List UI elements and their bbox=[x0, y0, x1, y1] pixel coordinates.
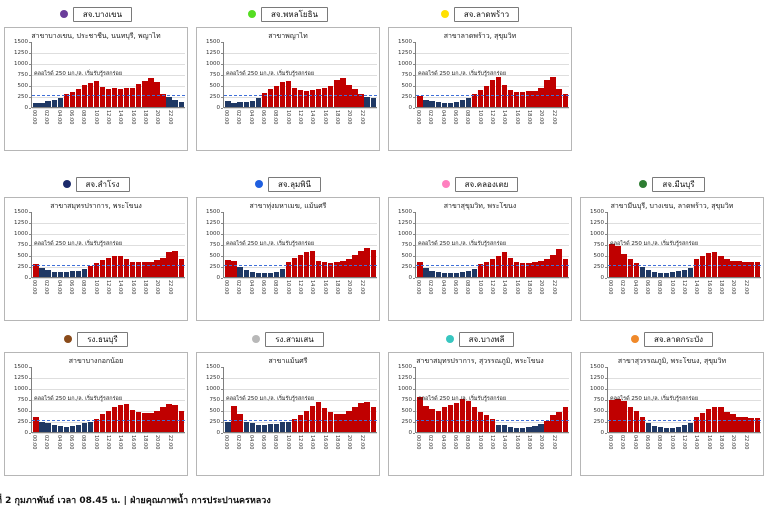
y-axis-tick-label: 0 bbox=[25, 430, 29, 436]
chart-panel: สาขาสมุทรปราการ, พระโขนง1500125010007505… bbox=[4, 197, 188, 321]
bar bbox=[256, 273, 261, 277]
chart-panel: สาขาแม้นศรี1500125010007505002500คลอไรด์… bbox=[196, 352, 380, 476]
bar bbox=[730, 414, 735, 432]
bar bbox=[268, 89, 273, 107]
bar bbox=[346, 411, 351, 432]
station-legend-chip[interactable]: สจ.มีนบุรี bbox=[576, 173, 768, 195]
bar bbox=[466, 401, 471, 432]
station-legend-chip[interactable]: สจ.ลาดพร้าว bbox=[384, 3, 576, 25]
bar bbox=[484, 415, 489, 432]
y-axis-tick-label: 250 bbox=[210, 419, 221, 425]
y-axis-tick-label: 1500 bbox=[398, 209, 412, 215]
y-axis-tick-label: 1000 bbox=[14, 61, 28, 67]
bar bbox=[58, 98, 63, 107]
bar bbox=[100, 260, 105, 277]
threshold-line bbox=[32, 420, 185, 421]
bar bbox=[436, 411, 441, 432]
bar bbox=[328, 86, 333, 107]
y-axis-tick-label: 1500 bbox=[14, 209, 28, 215]
threshold-annotation: คลอไรด์ 250 มก./ล. เริ่มรับรู้รสกร่อย bbox=[226, 396, 314, 403]
bar bbox=[88, 422, 93, 432]
bar bbox=[45, 101, 50, 107]
bar bbox=[244, 422, 249, 432]
bar bbox=[52, 272, 57, 277]
y-axis-tick-label: 750 bbox=[18, 397, 29, 403]
bar bbox=[556, 89, 561, 107]
threshold-line bbox=[224, 265, 377, 266]
x-axis-tick bbox=[371, 279, 377, 309]
plot-wrapper: 1500125010007505002500คลอไรด์ 250 มก./ล.… bbox=[197, 42, 379, 140]
bar bbox=[526, 91, 531, 107]
y-axis-tick-label: 750 bbox=[402, 72, 413, 78]
y-axis-tick-label: 750 bbox=[402, 242, 413, 248]
bar bbox=[52, 100, 57, 107]
bar bbox=[58, 272, 63, 277]
x-axis: 00:0002:0004:0006:0008:0010:0012:0014:00… bbox=[607, 279, 761, 309]
x-axis-tick bbox=[563, 434, 569, 464]
bar bbox=[417, 96, 422, 107]
bar bbox=[640, 267, 645, 277]
bar bbox=[538, 424, 543, 432]
plot-wrapper: 1500125010007505002500คลอไรด์ 250 มก./ล.… bbox=[5, 42, 187, 140]
threshold-annotation: คลอไรด์ 250 มก./ล. เริ่มรับรู้รสกร่อย bbox=[226, 241, 314, 248]
bar bbox=[154, 260, 159, 277]
plot-area: คลอไรด์ 250 มก./ล. เริ่มรับรู้รสกร่อย bbox=[223, 212, 377, 278]
bar bbox=[112, 256, 117, 277]
bar bbox=[490, 259, 495, 277]
bar bbox=[88, 266, 93, 277]
chart-cell: รง.สามเสนสาขาแม้นศรี15001250100075050025… bbox=[192, 325, 384, 480]
y-axis-tick-label: 0 bbox=[217, 275, 221, 281]
bar bbox=[70, 271, 75, 277]
bar bbox=[502, 425, 507, 432]
y-axis-tick-label: 750 bbox=[210, 242, 221, 248]
bar bbox=[460, 100, 465, 107]
chart-panel: สาขาบางเขน, ประชาชื่น, นนทบุรี, พญาไท150… bbox=[4, 27, 188, 151]
bar bbox=[496, 256, 501, 277]
chart-panel: สาขามีนบุรี, บางเขน, ลาดพร้าว, สุขุมวิท1… bbox=[580, 197, 764, 321]
y-axis-tick-label: 1500 bbox=[590, 209, 604, 215]
station-color-dot-icon bbox=[441, 10, 449, 18]
bar bbox=[298, 415, 303, 432]
y-axis-tick-label: 1500 bbox=[398, 39, 412, 45]
bar bbox=[106, 411, 111, 432]
bar bbox=[508, 90, 513, 107]
bar bbox=[371, 250, 376, 277]
station-name-label: สจ.ลาดพร้าว bbox=[454, 7, 519, 22]
charts-grid: สจ.บางเขนสาขาบางเขน, ประชาชื่น, นนทบุรี,… bbox=[0, 0, 768, 480]
bar bbox=[82, 85, 87, 107]
y-axis-tick-label: 0 bbox=[25, 105, 29, 111]
bar bbox=[39, 103, 44, 107]
x-axis-tick bbox=[371, 434, 377, 464]
chart-panel: สาขาบางกอกน้อย1500125010007505002500คลอไ… bbox=[4, 352, 188, 476]
bar bbox=[256, 425, 261, 432]
bar bbox=[694, 259, 699, 277]
y-axis-tick-label: 1250 bbox=[14, 375, 28, 381]
bar bbox=[82, 269, 87, 277]
threshold-annotation: คลอไรด์ 250 มก./ล. เริ่มรับรู้รสกร่อย bbox=[226, 71, 314, 78]
bar bbox=[244, 102, 249, 107]
bar bbox=[609, 400, 614, 432]
plot-wrapper: 1500125010007505002500คลอไรด์ 250 มก./ล.… bbox=[581, 367, 763, 465]
y-axis-tick-label: 0 bbox=[409, 105, 413, 111]
bar bbox=[316, 261, 321, 277]
bar bbox=[268, 273, 273, 277]
bar bbox=[508, 427, 513, 432]
bar bbox=[124, 88, 129, 107]
bar bbox=[304, 411, 309, 432]
y-axis-tick-label: 500 bbox=[210, 253, 221, 259]
bar bbox=[130, 262, 135, 277]
x-axis-tick bbox=[179, 109, 185, 139]
bar bbox=[609, 244, 614, 277]
plot-wrapper: 1500125010007505002500คลอไรด์ 250 มก./ล.… bbox=[389, 367, 571, 465]
bar bbox=[346, 85, 351, 107]
chart-row-2: สจ.สำโรงสาขาสมุทรปราการ, พระโขนง15001250… bbox=[0, 170, 768, 325]
bar bbox=[502, 85, 507, 107]
y-axis-tick-label: 1000 bbox=[590, 231, 604, 237]
bar bbox=[250, 101, 255, 107]
x-axis-tick bbox=[755, 434, 761, 464]
y-axis-tick-label: 1000 bbox=[206, 386, 220, 392]
bar bbox=[304, 91, 309, 107]
y-axis-tick-label: 1500 bbox=[590, 364, 604, 370]
bar bbox=[544, 421, 549, 432]
chart-cell: รง.ธนบุรีสาขาบางกอกน้อย15001250100075050… bbox=[0, 325, 192, 480]
threshold-line bbox=[32, 95, 185, 96]
chart-title: สาขาทุ่งมหาเมฆ, แม้นศรี bbox=[199, 202, 377, 211]
x-axis: 00:0002:0004:0006:0008:0010:0012:0014:00… bbox=[415, 279, 569, 309]
y-axis-tick-label: 250 bbox=[210, 264, 221, 270]
y-axis-tick-label: 0 bbox=[409, 275, 413, 281]
y-axis: 1500125010007505002500 bbox=[581, 212, 607, 278]
y-axis-tick-label: 500 bbox=[594, 253, 605, 259]
bar bbox=[274, 272, 279, 277]
plot-area: คลอไรด์ 250 มก./ล. เริ่มรับรู้รสกร่อย bbox=[415, 367, 569, 433]
station-name-label: สจ.บางพลี bbox=[459, 332, 515, 347]
y-axis-tick-label: 750 bbox=[594, 397, 605, 403]
bar bbox=[460, 272, 465, 277]
threshold-line bbox=[224, 420, 377, 421]
bar bbox=[256, 98, 261, 107]
threshold-annotation: คลอไรด์ 250 มก./ล. เริ่มรับรู้รสกร่อย bbox=[610, 241, 698, 248]
bar bbox=[371, 98, 376, 107]
x-axis: 00:0002:0004:0006:0008:0010:0012:0014:00… bbox=[223, 109, 377, 139]
x-axis-tick bbox=[179, 279, 185, 309]
bar bbox=[556, 249, 561, 277]
bar bbox=[364, 97, 369, 107]
bar bbox=[423, 100, 428, 107]
bar bbox=[310, 406, 315, 432]
bar bbox=[724, 259, 729, 277]
y-axis-tick-label: 250 bbox=[210, 94, 221, 100]
y-axis-tick-label: 0 bbox=[25, 275, 29, 281]
bar bbox=[148, 413, 153, 432]
bar bbox=[340, 261, 345, 277]
bar bbox=[550, 77, 555, 107]
dashboard-page: สจ.บางเขนสาขาบางเขน, ประชาชื่น, นนทบุรี,… bbox=[0, 0, 768, 512]
bar bbox=[478, 412, 483, 432]
plot-wrapper: 1500125010007505002500คลอไรด์ 250 มก./ล.… bbox=[197, 212, 379, 310]
bar bbox=[718, 256, 723, 277]
station-legend-chip[interactable]: รง.สามเสน bbox=[192, 328, 384, 350]
plot-wrapper: 1500125010007505002500คลอไรด์ 250 มก./ล.… bbox=[5, 212, 187, 310]
bar bbox=[118, 405, 123, 432]
bar bbox=[621, 401, 626, 432]
bar bbox=[429, 271, 434, 277]
station-color-dot-icon bbox=[64, 335, 72, 343]
bar bbox=[298, 90, 303, 107]
bar bbox=[154, 411, 159, 432]
bar bbox=[682, 425, 687, 432]
bar bbox=[514, 92, 519, 107]
y-axis-tick-label: 1000 bbox=[398, 231, 412, 237]
bar bbox=[340, 78, 345, 107]
bar bbox=[70, 426, 75, 432]
station-color-dot-icon bbox=[248, 10, 256, 18]
bar bbox=[520, 428, 525, 432]
chart-title: สาขาบางเขน, ประชาชื่น, นนทบุรี, พญาไท bbox=[7, 32, 185, 41]
station-legend-chip[interactable]: สจ.บางเขน bbox=[0, 3, 192, 25]
plot-wrapper: 1500125010007505002500คลอไรด์ 250 มก./ล.… bbox=[389, 212, 571, 310]
x-axis: 00:0002:0004:0006:0008:0010:0012:0014:00… bbox=[223, 434, 377, 464]
bar bbox=[250, 423, 255, 432]
station-name-label: สจ.คลองเตย bbox=[455, 177, 519, 192]
bar bbox=[550, 415, 555, 432]
chart-panel: สาขาสมุทรปราการ, สุวรรณภูมิ, พระโขนง1500… bbox=[388, 352, 572, 476]
bar bbox=[280, 269, 285, 277]
bar bbox=[274, 86, 279, 107]
bar bbox=[39, 422, 44, 432]
x-axis-tick bbox=[755, 279, 761, 309]
bar bbox=[652, 272, 657, 277]
bar bbox=[45, 270, 50, 277]
bar bbox=[340, 414, 345, 432]
bar bbox=[538, 88, 543, 107]
x-axis: 00:0002:0004:0006:0008:0010:0012:0014:00… bbox=[607, 434, 761, 464]
y-axis: 1500125010007505002500 bbox=[197, 212, 223, 278]
bar bbox=[172, 405, 177, 432]
chart-row-3: รง.ธนบุรีสาขาบางกอกน้อย15001250100075050… bbox=[0, 325, 768, 480]
bar bbox=[231, 103, 236, 107]
bar bbox=[179, 411, 184, 432]
station-legend-chip[interactable]: สจ.สำโรง bbox=[0, 173, 192, 195]
y-axis: 1500125010007505002500 bbox=[197, 367, 223, 433]
y-axis-tick-label: 0 bbox=[601, 275, 605, 281]
bar bbox=[544, 259, 549, 277]
bar bbox=[423, 268, 428, 277]
y-axis-tick-label: 1250 bbox=[206, 220, 220, 226]
bar bbox=[346, 259, 351, 277]
bar bbox=[286, 422, 291, 432]
bar bbox=[316, 402, 321, 432]
bar bbox=[33, 103, 38, 107]
x-axis: 00:0002:0004:0006:0008:0010:0012:0014:00… bbox=[31, 279, 185, 309]
bar bbox=[274, 424, 279, 432]
plot-area: คลอไรด์ 250 มก./ล. เริ่มรับรู้รสกร่อย bbox=[31, 367, 185, 433]
bar bbox=[700, 256, 705, 277]
y-axis-tick-label: 500 bbox=[18, 83, 29, 89]
y-axis-tick-label: 250 bbox=[402, 94, 413, 100]
bar bbox=[225, 101, 230, 107]
station-legend-chip[interactable]: รง.ธนบุรี bbox=[0, 328, 192, 350]
plot-wrapper: 1500125010007505002500คลอไรด์ 250 มก./ล.… bbox=[5, 367, 187, 465]
station-name-label: รง.ธนบุรี bbox=[77, 332, 127, 347]
y-axis-tick-label: 500 bbox=[18, 408, 29, 414]
bar bbox=[172, 251, 177, 277]
y-axis-tick-label: 1500 bbox=[14, 39, 28, 45]
station-legend-chip[interactable]: สจ.บางพลี bbox=[384, 328, 576, 350]
bar bbox=[268, 424, 273, 432]
chart-panel: สาขาพญาไท1500125010007505002500คลอไรด์ 2… bbox=[196, 27, 380, 151]
station-name-label: สจ.สำโรง bbox=[76, 177, 130, 192]
bar bbox=[364, 402, 369, 432]
chart-title: สาขาบางกอกน้อย bbox=[7, 357, 185, 366]
y-axis: 1500125010007505002500 bbox=[389, 42, 415, 108]
y-axis: 1500125010007505002500 bbox=[389, 367, 415, 433]
x-axis: 00:0002:0004:0006:0008:0010:0012:0014:00… bbox=[31, 434, 185, 464]
bar bbox=[328, 412, 333, 432]
threshold-line bbox=[32, 265, 185, 266]
chart-cell: สจ.บางเขนสาขาบางเขน, ประชาชื่น, นนทบุรี,… bbox=[0, 0, 192, 155]
station-legend-chip[interactable]: สจ.พหลโยธิน bbox=[192, 3, 384, 25]
bar bbox=[682, 270, 687, 277]
bar bbox=[262, 425, 267, 432]
bar bbox=[742, 262, 747, 277]
bar bbox=[508, 258, 513, 277]
bar bbox=[688, 423, 693, 432]
bar bbox=[532, 426, 537, 432]
bar bbox=[250, 272, 255, 277]
bar bbox=[148, 262, 153, 277]
bar bbox=[436, 102, 441, 107]
chart-cell: สจ.ลาดกระบังสาขาสุวรรณภูมิ, พระโขนง, สุข… bbox=[576, 325, 768, 480]
threshold-annotation: คลอไรด์ 250 มก./ล. เริ่มรับรู้รสกร่อย bbox=[610, 396, 698, 403]
bar bbox=[472, 269, 477, 277]
bar bbox=[652, 426, 657, 432]
bar bbox=[514, 428, 519, 432]
y-axis-tick-label: 1500 bbox=[398, 364, 412, 370]
y-axis-tick-label: 250 bbox=[402, 264, 413, 270]
bar bbox=[563, 259, 568, 277]
threshold-annotation: คลอไรด์ 250 มก./ล. เริ่มรับรู้รสกร่อย bbox=[418, 71, 506, 78]
station-name-label: สจ.พหลโยธิน bbox=[261, 7, 328, 22]
threshold-line bbox=[416, 420, 569, 421]
threshold-line bbox=[608, 420, 761, 421]
plot-wrapper: 1500125010007505002500คลอไรด์ 250 มก./ล.… bbox=[581, 212, 763, 310]
footer-text: ที่ 2 กุมภาพันธ์ เวลา 08.45 น. | ฝ่ายคุณ… bbox=[0, 493, 271, 507]
plot-area: คลอไรด์ 250 มก./ล. เริ่มรับรู้รสกร่อย bbox=[31, 42, 185, 108]
station-color-dot-icon bbox=[252, 335, 260, 343]
y-axis: 1500125010007505002500 bbox=[5, 42, 31, 108]
bar bbox=[225, 422, 230, 432]
threshold-line bbox=[416, 95, 569, 96]
bar bbox=[526, 427, 531, 432]
y-axis-tick-label: 250 bbox=[594, 264, 605, 270]
bar bbox=[106, 89, 111, 107]
bar bbox=[237, 267, 242, 277]
bar bbox=[670, 428, 675, 432]
bar bbox=[628, 259, 633, 277]
bar bbox=[172, 100, 177, 107]
bar bbox=[39, 268, 44, 277]
bar bbox=[496, 425, 501, 432]
y-axis-tick-label: 250 bbox=[18, 419, 29, 425]
y-axis-tick-label: 750 bbox=[210, 397, 221, 403]
bar bbox=[448, 405, 453, 432]
bar bbox=[142, 81, 147, 107]
chart-row-1: สจ.บางเขนสาขาบางเขน, ประชาชื่น, นนทบุรี,… bbox=[0, 0, 768, 170]
plot-area: คลอไรด์ 250 มก./ล. เริ่มรับรู้รสกร่อย bbox=[31, 212, 185, 278]
bar bbox=[423, 406, 428, 432]
y-axis-tick-label: 1500 bbox=[206, 209, 220, 215]
station-legend-chip[interactable]: สจ.ลาดกระบัง bbox=[576, 328, 768, 350]
bar bbox=[45, 423, 50, 432]
y-axis-tick-label: 1250 bbox=[206, 375, 220, 381]
bar bbox=[544, 80, 549, 107]
bar bbox=[454, 403, 459, 432]
chart-panel: สาขาสุขุมวิท, พระโขนง1500125010007505002… bbox=[388, 197, 572, 321]
bar bbox=[700, 413, 705, 432]
station-legend-chip[interactable]: สจ.คลองเตย bbox=[384, 173, 576, 195]
station-color-dot-icon bbox=[63, 180, 71, 188]
bar bbox=[82, 423, 87, 432]
chart-title: สาขาสมุทรปราการ, พระโขนง bbox=[7, 202, 185, 211]
chart-title: สาขาพญาไท bbox=[199, 32, 377, 41]
footer: ที่ 2 กุมภาพันธ์ เวลา 08.45 น. | ฝ่ายคุณ… bbox=[0, 490, 768, 510]
bar bbox=[670, 272, 675, 277]
station-legend-chip[interactable]: สจ.ลุมพินี bbox=[192, 173, 384, 195]
chart-cell: สจ.ลุมพินีสาขาทุ่งมหาเมฆ, แม้นศรี1500125… bbox=[192, 170, 384, 325]
bar bbox=[118, 256, 123, 277]
bar bbox=[442, 273, 447, 277]
y-axis: 1500125010007505002500 bbox=[5, 212, 31, 278]
y-axis-tick-label: 500 bbox=[402, 253, 413, 259]
bar bbox=[538, 261, 543, 277]
bar bbox=[316, 89, 321, 107]
bar bbox=[231, 261, 236, 277]
y-axis-tick-label: 750 bbox=[18, 72, 29, 78]
threshold-annotation: คลอไรด์ 250 มก./ล. เริ่มรับรู้รสกร่อย bbox=[418, 396, 506, 403]
bar bbox=[334, 414, 339, 432]
bar bbox=[615, 399, 620, 432]
y-axis-tick-label: 0 bbox=[217, 105, 221, 111]
bar bbox=[334, 80, 339, 107]
bar bbox=[730, 261, 735, 277]
bar bbox=[310, 90, 315, 107]
bar bbox=[460, 399, 465, 432]
bar bbox=[292, 258, 297, 277]
y-axis-tick-label: 750 bbox=[18, 242, 29, 248]
bar bbox=[136, 412, 141, 432]
station-name-label: สจ.ลุมพินี bbox=[268, 177, 321, 192]
bar bbox=[352, 255, 357, 277]
bar bbox=[688, 268, 693, 277]
plot-area: คลอไรด์ 250 มก./ล. เริ่มรับรู้รสกร่อย bbox=[607, 367, 761, 433]
bar bbox=[142, 413, 147, 432]
y-axis-tick-label: 250 bbox=[18, 94, 29, 100]
bar bbox=[124, 259, 129, 277]
bar bbox=[112, 88, 117, 107]
plot-area: คลอไรด์ 250 มก./ล. เริ่มรับรู้รสกร่อย bbox=[415, 212, 569, 278]
chart-cell: สจ.บางพลีสาขาสมุทรปราการ, สุวรรณภูมิ, พร… bbox=[384, 325, 576, 480]
station-color-dot-icon bbox=[60, 10, 68, 18]
bar bbox=[676, 271, 681, 277]
bar bbox=[429, 101, 434, 107]
bar bbox=[550, 255, 555, 277]
y-axis-tick-label: 1250 bbox=[398, 375, 412, 381]
